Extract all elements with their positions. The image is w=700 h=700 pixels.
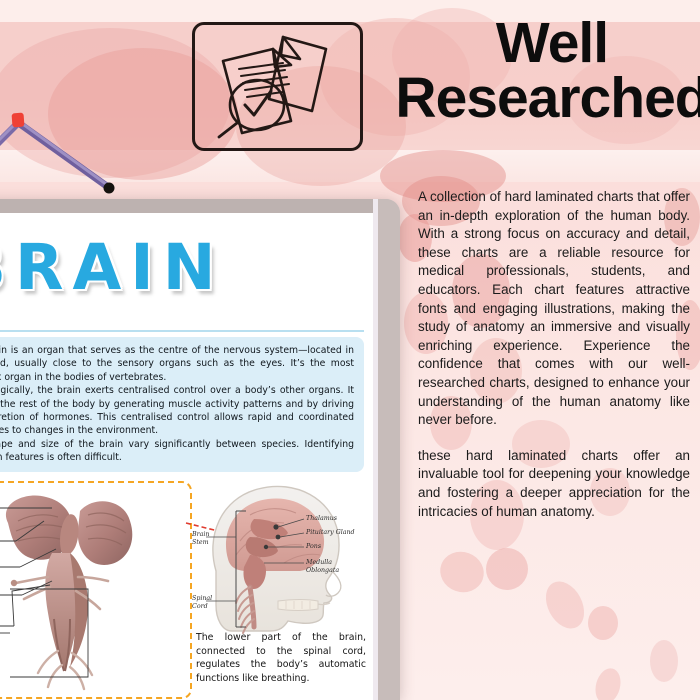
brain-chart-poster: BRAIN The brain is an organ that serves … xyxy=(0,199,400,700)
page-title-line1: Well xyxy=(392,16,700,71)
poster-page: Well Researched BRAIN The brain is an or… xyxy=(0,0,700,700)
poster-frame-top xyxy=(0,199,400,213)
page-title-line2: Researched xyxy=(392,71,700,126)
intro-paragraph-2: Physiologically, the brain exerts centra… xyxy=(0,384,354,438)
well-researched-icon-box xyxy=(192,22,363,151)
head-figure-caption: The lower part of the brain, connected t… xyxy=(196,631,366,685)
poster-intro-box: The brain is an organ that serves as the… xyxy=(0,337,364,472)
description-paragraph-1: A collection of hard laminated charts th… xyxy=(418,188,690,430)
brainstem-illustration xyxy=(0,481,188,695)
figure-right-label: Spinal Cord xyxy=(192,595,218,611)
description-column: A collection of hard laminated charts th… xyxy=(418,188,690,521)
poster-frame-right xyxy=(378,199,400,700)
figure-right-label: Pituitary Gland xyxy=(306,529,355,536)
figure-right-label: Brain Stem xyxy=(192,531,218,547)
title-divider xyxy=(0,330,364,332)
poster-content: BRAIN The brain is an organ that serves … xyxy=(0,213,373,700)
head-sagittal-illustration xyxy=(192,475,370,635)
background-band-light xyxy=(0,150,700,182)
poster-title: BRAIN xyxy=(0,235,358,301)
brainstem-figure: Thalamus Choroid Plexus Optic Tract Midd… xyxy=(0,481,188,695)
description-paragraph-2: these hard laminated charts offer an inv… xyxy=(418,447,690,521)
documents-magnifier-check-icon xyxy=(195,25,354,142)
figure-right-label: Pons xyxy=(306,543,321,550)
figure-right-label: Medulla Oblongata xyxy=(306,559,354,575)
figure-right-label: Thalamus xyxy=(306,515,337,522)
intro-paragraph-1: The brain is an organ that serves as the… xyxy=(0,344,354,384)
page-title: Well Researched xyxy=(392,16,700,146)
intro-paragraph-3: The shape and size of the brain vary sig… xyxy=(0,438,354,465)
